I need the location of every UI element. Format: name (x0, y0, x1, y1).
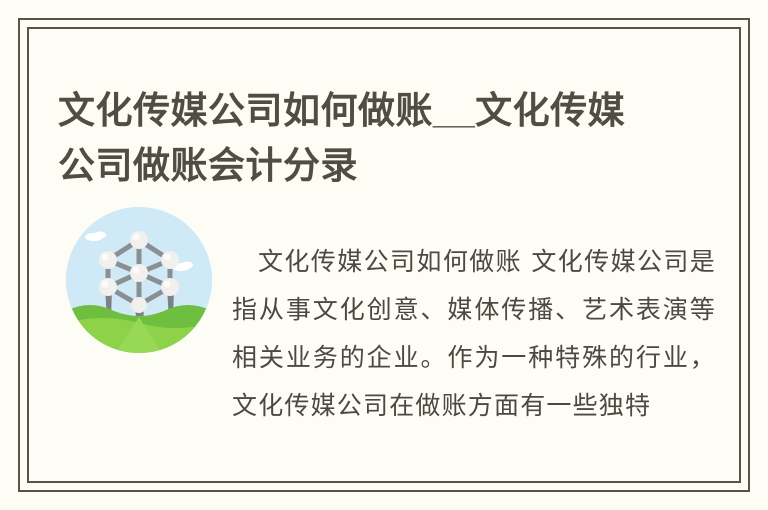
article-body: 文化传媒公司如何做账 文化传媒公司是指从事文化创意、媒体传播、艺术表演等相关业务… (232, 238, 716, 430)
article-content: 文化传媒公司如何做账 文化传媒公司是指从事文化创意、媒体传播、艺术表演等相关业务… (58, 195, 716, 470)
page-title: 文化传媒公司如何做账__文化传媒公司做账会计分录 (58, 83, 658, 193)
atomium-monument-illustration (66, 207, 212, 353)
document-page: 文化传媒公司如何做账__文化传媒公司做账会计分录 (0, 0, 768, 510)
article-thumbnail (66, 207, 212, 353)
